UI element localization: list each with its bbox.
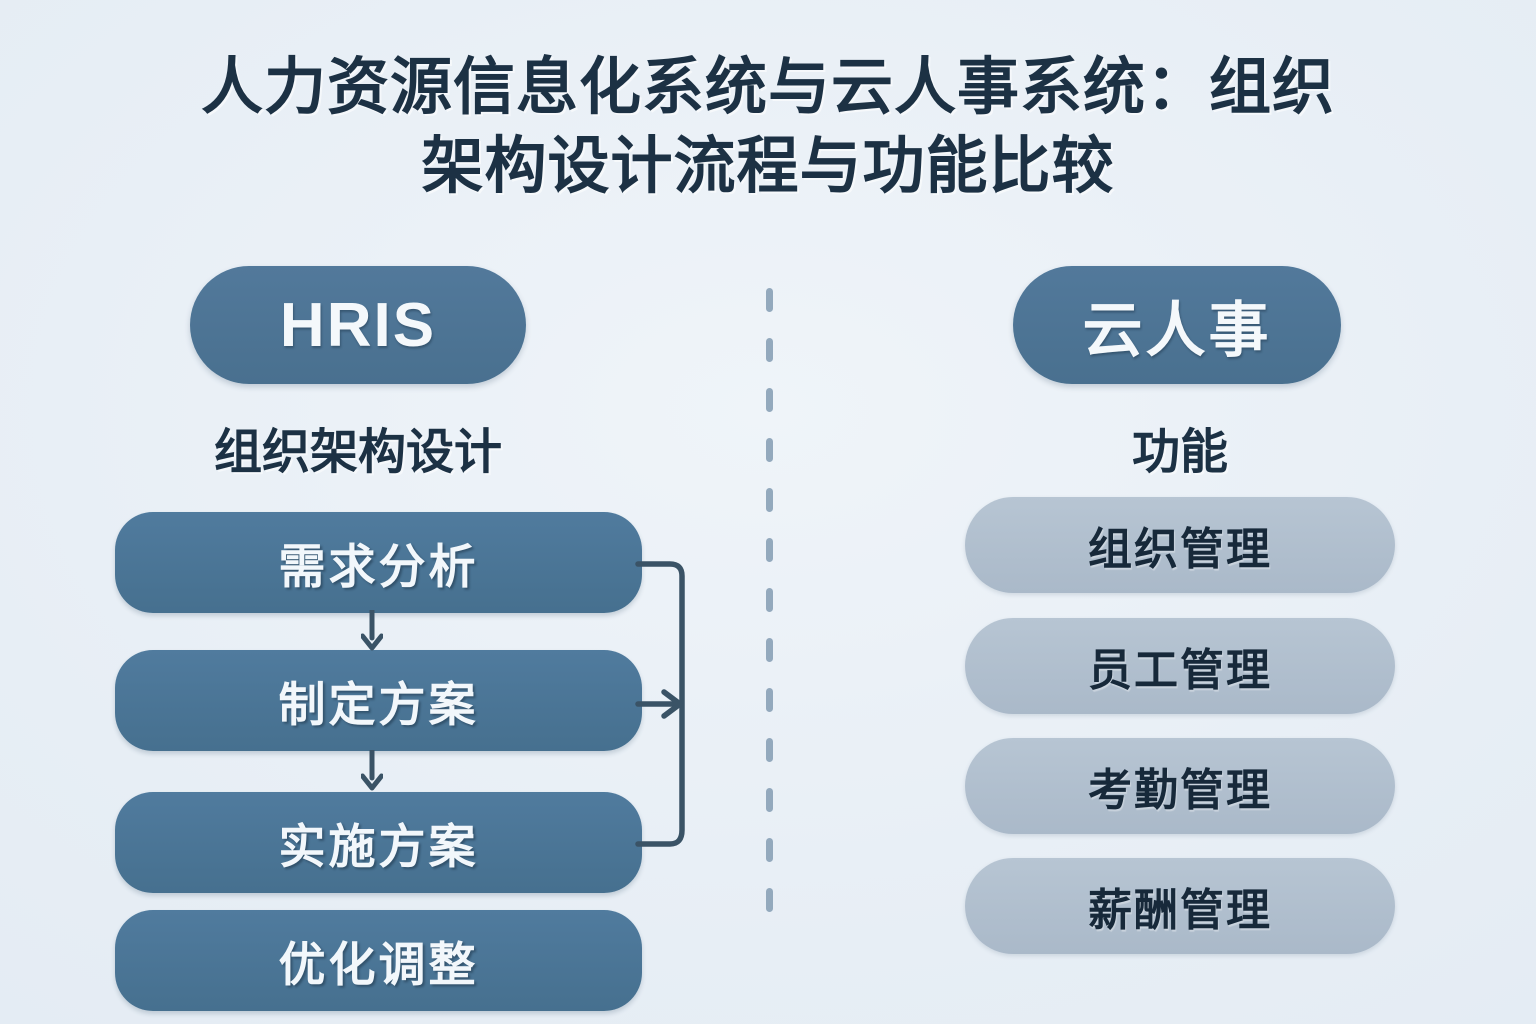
feedback-bracket-connector — [630, 548, 710, 868]
divider-dash — [766, 388, 773, 412]
feature-pill[interactable]: 员工管理 — [965, 618, 1395, 714]
right-column-subtitle: 功能 — [965, 412, 1395, 482]
divider-dash — [766, 438, 773, 462]
divider-dash — [766, 838, 773, 862]
feature-pill-label: 薪酬管理 — [1088, 874, 1272, 938]
page-title-line-1: 人力资源信息化系统与云人事系统：组织 — [78, 48, 1458, 127]
cloud-hr-badge: 云人事 — [1013, 266, 1341, 384]
divider-dash — [766, 888, 773, 912]
page-title-line-2: 架构设计流程与功能比较 — [78, 127, 1458, 206]
column-divider — [766, 288, 773, 988]
divider-dash — [766, 688, 773, 712]
flow-step-label: 实施方案 — [279, 808, 479, 877]
arrow-down-icon — [361, 750, 383, 794]
flow-step-box[interactable]: 实施方案 — [115, 792, 642, 893]
divider-dash — [766, 338, 773, 362]
divider-dash — [766, 488, 773, 512]
hris-badge: HRIS — [190, 266, 526, 384]
arrow-down-icon — [361, 610, 383, 654]
feature-pill[interactable]: 薪酬管理 — [965, 858, 1395, 954]
flow-step-box[interactable]: 需求分析 — [115, 512, 642, 613]
feature-pill-label: 员工管理 — [1088, 634, 1272, 698]
flow-step-box[interactable]: 制定方案 — [115, 650, 642, 751]
page-title: 人力资源信息化系统与云人事系统：组织 架构设计流程与功能比较 — [78, 48, 1458, 207]
divider-dash — [766, 788, 773, 812]
divider-dash — [766, 588, 773, 612]
cloud-hr-badge-label: 云人事 — [1083, 282, 1272, 369]
feature-pill-label: 考勤管理 — [1088, 754, 1272, 818]
feature-pill-label: 组织管理 — [1088, 513, 1272, 577]
feature-pill[interactable]: 组织管理 — [965, 497, 1395, 593]
flow-step-label: 优化调整 — [279, 926, 479, 995]
divider-dash — [766, 638, 773, 662]
flow-step-label: 需求分析 — [279, 528, 479, 597]
hris-badge-label: HRIS — [280, 290, 436, 361]
divider-dash — [766, 538, 773, 562]
feature-pill[interactable]: 考勤管理 — [965, 738, 1395, 834]
divider-dash — [766, 288, 773, 312]
divider-dash — [766, 738, 773, 762]
flow-step-label: 制定方案 — [279, 666, 479, 735]
infographic-canvas: 人力资源信息化系统与云人事系统：组织 架构设计流程与功能比较 HRIS 组织架构… — [0, 0, 1536, 1024]
left-column-subtitle: 组织架构设计 — [110, 412, 606, 482]
flow-step-box[interactable]: 优化调整 — [115, 910, 642, 1011]
